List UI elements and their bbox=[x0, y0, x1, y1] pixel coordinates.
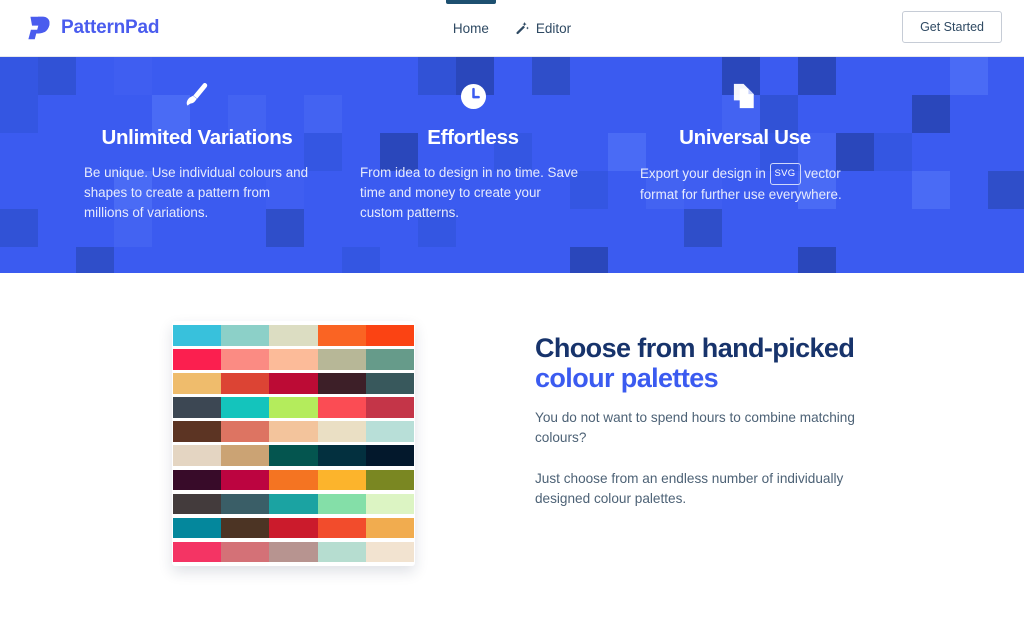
palette-row[interactable] bbox=[173, 518, 414, 539]
palette-swatch[interactable] bbox=[318, 445, 366, 466]
feature-title: Universal Use bbox=[640, 126, 850, 150]
palette-swatch[interactable] bbox=[366, 325, 414, 346]
feature-description: Be unique. Use individual colours and sh… bbox=[84, 163, 310, 223]
palette-swatch[interactable] bbox=[269, 470, 317, 491]
feature-description-before: Export your design in bbox=[640, 166, 766, 181]
feature-description: Export your design in SVG vector format … bbox=[640, 163, 850, 205]
palette-swatch[interactable] bbox=[269, 518, 317, 539]
palette-swatch[interactable] bbox=[269, 349, 317, 370]
palette-swatch[interactable] bbox=[173, 325, 221, 346]
palette-row[interactable] bbox=[173, 445, 414, 466]
palette-copy: Choose from hand-picked colour palettes … bbox=[535, 321, 865, 566]
palette-swatch[interactable] bbox=[318, 494, 366, 515]
palette-swatch[interactable] bbox=[366, 349, 414, 370]
palette-row[interactable] bbox=[173, 542, 414, 563]
heading-line-2-plain: picked bbox=[772, 333, 854, 363]
feature-title: Effortless bbox=[360, 126, 586, 150]
palette-swatch[interactable] bbox=[221, 518, 269, 539]
feature-unlimited-variations: Unlimited Variations Be unique. Use indi… bbox=[84, 79, 310, 223]
palette-paragraph-1: You do not want to spend hours to combin… bbox=[535, 408, 865, 448]
palette-swatch[interactable] bbox=[269, 325, 317, 346]
palette-swatch[interactable] bbox=[366, 421, 414, 442]
palette-swatch[interactable] bbox=[173, 542, 221, 563]
hero-features: Unlimited Variations Be unique. Use indi… bbox=[0, 57, 1024, 223]
palette-swatch[interactable] bbox=[221, 373, 269, 394]
nav-item-editor-label: Editor bbox=[536, 21, 571, 36]
palette-swatch[interactable] bbox=[318, 349, 366, 370]
palette-swatch[interactable] bbox=[221, 421, 269, 442]
palette-row[interactable] bbox=[173, 397, 414, 418]
palette-swatch[interactable] bbox=[173, 518, 221, 539]
palette-row[interactable] bbox=[173, 325, 414, 346]
palette-swatch[interactable] bbox=[318, 397, 366, 418]
palette-row[interactable] bbox=[173, 373, 414, 394]
nav-item-home-label: Home bbox=[453, 21, 489, 36]
palette-swatch[interactable] bbox=[269, 397, 317, 418]
palette-section: Choose from hand-picked colour palettes … bbox=[0, 273, 1024, 566]
palette-swatch[interactable] bbox=[221, 542, 269, 563]
feature-effortless: Effortless From idea to design in no tim… bbox=[360, 79, 586, 223]
palette-swatch[interactable] bbox=[173, 470, 221, 491]
page-root: PatternPad Home Editor Get Started bbox=[0, 0, 1024, 621]
copy-documents-icon bbox=[640, 79, 850, 113]
palette-swatch[interactable] bbox=[366, 494, 414, 515]
palette-swatch[interactable] bbox=[269, 421, 317, 442]
main-nav: Home Editor bbox=[0, 0, 1024, 57]
palette-row[interactable] bbox=[173, 349, 414, 370]
palette-swatch[interactable] bbox=[318, 373, 366, 394]
palette-paragraph-2: Just choose from an endless number of in… bbox=[535, 469, 865, 509]
colour-palette-card[interactable] bbox=[172, 321, 415, 566]
palette-swatch[interactable] bbox=[173, 445, 221, 466]
palette-swatch[interactable] bbox=[318, 325, 366, 346]
palette-swatch[interactable] bbox=[221, 325, 269, 346]
heading-line-1: Choose from hand- bbox=[535, 333, 772, 363]
palette-swatch[interactable] bbox=[366, 445, 414, 466]
heading-line-2-accent: colour palettes bbox=[535, 363, 718, 393]
feature-universal-use: Universal Use Export your design in SVG … bbox=[640, 79, 850, 223]
feature-title: Unlimited Variations bbox=[84, 126, 310, 150]
paintbrush-icon bbox=[84, 79, 310, 113]
palette-swatch[interactable] bbox=[221, 349, 269, 370]
palette-swatch[interactable] bbox=[366, 518, 414, 539]
palette-swatch[interactable] bbox=[221, 470, 269, 491]
palette-row[interactable] bbox=[173, 421, 414, 442]
palette-swatch[interactable] bbox=[173, 373, 221, 394]
palette-swatch[interactable] bbox=[366, 397, 414, 418]
palette-swatch[interactable] bbox=[318, 542, 366, 563]
palette-row[interactable] bbox=[173, 470, 414, 491]
palette-swatch[interactable] bbox=[221, 397, 269, 418]
magic-wand-icon bbox=[515, 21, 530, 36]
clock-icon bbox=[360, 79, 586, 113]
palette-swatch[interactable] bbox=[366, 470, 414, 491]
palette-swatch[interactable] bbox=[173, 494, 221, 515]
get-started-button[interactable]: Get Started bbox=[902, 11, 1002, 43]
palette-swatch[interactable] bbox=[269, 494, 317, 515]
palette-swatch[interactable] bbox=[366, 542, 414, 563]
palette-swatch[interactable] bbox=[318, 518, 366, 539]
palette-swatch[interactable] bbox=[221, 494, 269, 515]
page-title: Choose from hand-picked colour palettes bbox=[535, 333, 865, 393]
palette-swatch[interactable] bbox=[173, 421, 221, 442]
palette-swatch[interactable] bbox=[269, 373, 317, 394]
palette-swatch[interactable] bbox=[173, 349, 221, 370]
hero-section: Unlimited Variations Be unique. Use indi… bbox=[0, 57, 1024, 273]
palette-swatch[interactable] bbox=[221, 445, 269, 466]
palette-swatch[interactable] bbox=[318, 470, 366, 491]
palette-swatch[interactable] bbox=[173, 397, 221, 418]
palette-swatch[interactable] bbox=[366, 373, 414, 394]
palette-swatch[interactable] bbox=[318, 421, 366, 442]
nav-item-editor[interactable]: Editor bbox=[515, 0, 571, 57]
nav-item-home[interactable]: Home bbox=[453, 0, 489, 57]
palette-swatch[interactable] bbox=[269, 445, 317, 466]
palette-row[interactable] bbox=[173, 494, 414, 515]
app-header: PatternPad Home Editor Get Started bbox=[0, 0, 1024, 57]
palette-swatch[interactable] bbox=[269, 542, 317, 563]
svg-format-badge: SVG bbox=[770, 163, 801, 185]
feature-description: From idea to design in no time. Save tim… bbox=[360, 163, 586, 223]
